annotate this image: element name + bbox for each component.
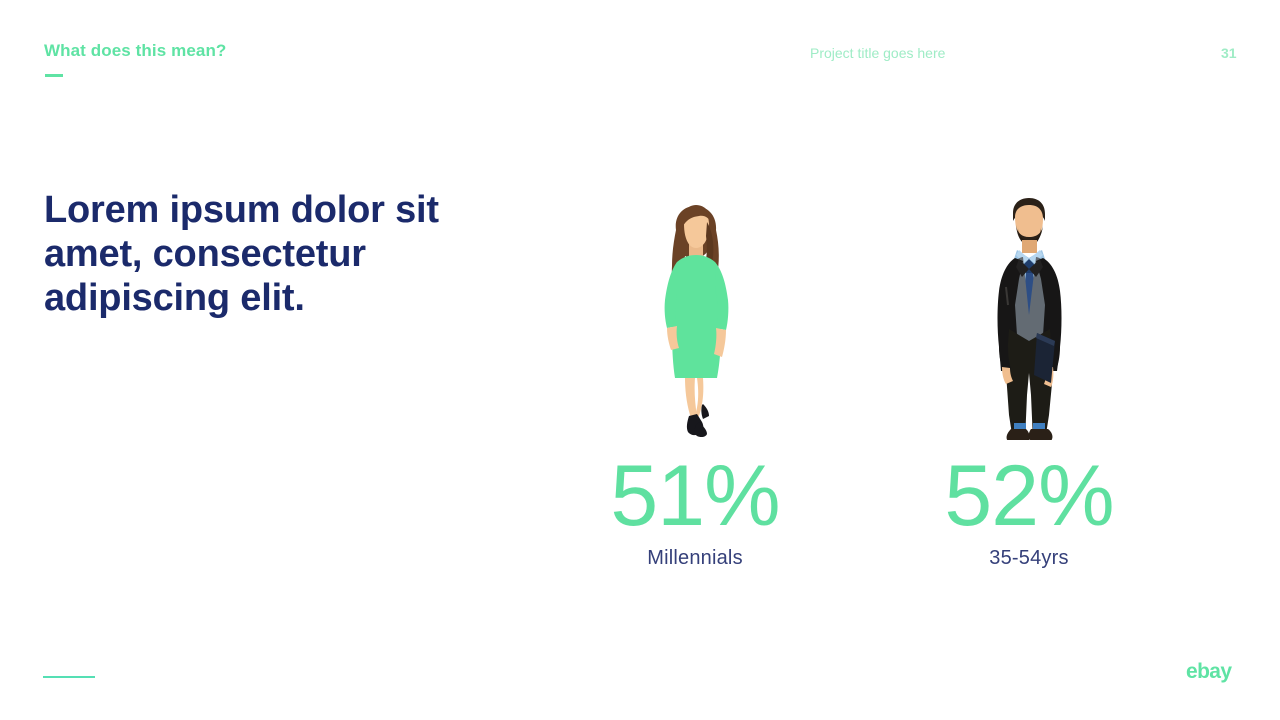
project-title: Project title goes here [810, 45, 945, 61]
woman-figure-container [565, 200, 825, 440]
slide-canvas: What does this mean? Project title goes … [0, 0, 1280, 720]
headline-text: Lorem ipsum dolor sit amet, consectetur … [44, 188, 484, 320]
page-title: What does this mean? [44, 41, 226, 61]
page-number: 31 [1221, 45, 1237, 61]
man-figure-container [899, 195, 1159, 435]
man-dark-suit-icon [975, 195, 1083, 440]
stat-label: Millennials [565, 547, 825, 570]
footer-rule [43, 676, 95, 678]
title-underline-dash [45, 74, 63, 77]
stat-value: 52% [899, 453, 1159, 539]
woman-green-dress-icon [641, 200, 749, 440]
stat-block-35-54: 52% 35-54yrs [899, 195, 1159, 570]
stat-block-millennials: 51% Millennials [565, 200, 825, 570]
stat-label: 35-54yrs [899, 547, 1159, 570]
ebay-logo: ebay [1186, 660, 1231, 684]
stat-value: 51% [565, 453, 825, 539]
